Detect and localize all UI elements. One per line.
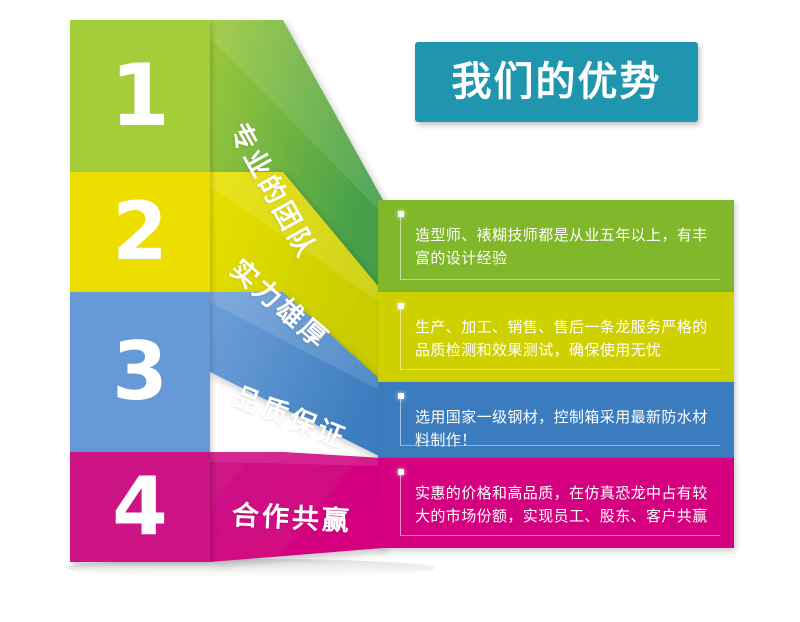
number-block-1: 1	[70, 20, 210, 172]
band-label-4: 合作共赢	[231, 502, 352, 535]
number-block-3: 3	[70, 292, 210, 452]
title-banner: 我们的优势	[415, 42, 698, 122]
bullet-dot-icon	[398, 211, 404, 217]
number-block-2: 2	[70, 172, 210, 292]
number-label: 3	[112, 332, 168, 412]
text-panel-3: 选用国家一级钢材，控制箱采用最新防水材料制作！	[378, 382, 734, 458]
text-panel-1: 造型师、裱糊技师都是从业五年以上，有丰富的设计经验	[378, 200, 734, 292]
panel-text: 造型师、裱糊技师都是从业五年以上，有丰富的设计经验	[415, 224, 714, 271]
panel-frame: 造型师、裱糊技师都是从业五年以上，有丰富的设计经验	[400, 214, 720, 280]
bullet-dot-icon	[398, 303, 404, 309]
panel-frame: 选用国家一级钢材，控制箱采用最新防水材料制作！	[400, 396, 720, 446]
number-label: 2	[112, 192, 168, 272]
infographic-canvas: 1 2 3 4 专业的团队 实力雄厚 品质保证 合作共赢 造型师、裱糊技师都是从…	[0, 0, 800, 622]
text-panel-2: 生产、加工、销售、售后一条龙服务严格的品质检测和效果测试，确保使用无忧	[378, 292, 734, 382]
number-block-4: 4	[70, 452, 210, 562]
number-label: 4	[112, 467, 168, 547]
text-panel-4: 实惠的价格和高品质，在仿真恐龙中占有较大的市场份额，实现员工、股东、客户共赢	[378, 458, 734, 548]
bullet-dot-icon	[398, 469, 404, 475]
panel-frame: 实惠的价格和高品质，在仿真恐龙中占有较大的市场份额，实现员工、股东、客户共赢	[400, 472, 720, 536]
bullet-dot-icon	[398, 393, 404, 399]
panel-text: 选用国家一级钢材，控制箱采用最新防水材料制作！	[415, 406, 714, 453]
page-title: 我们的优势	[452, 62, 662, 102]
number-label: 1	[110, 53, 170, 139]
panel-text: 生产、加工、销售、售后一条龙服务严格的品质检测和效果测试，确保使用无忧	[415, 316, 714, 363]
panel-text: 实惠的价格和高品质，在仿真恐龙中占有较大的市场份额，实现员工、股东、客户共赢	[415, 482, 714, 529]
panel-frame: 生产、加工、销售、售后一条龙服务严格的品质检测和效果测试，确保使用无忧	[400, 306, 720, 370]
